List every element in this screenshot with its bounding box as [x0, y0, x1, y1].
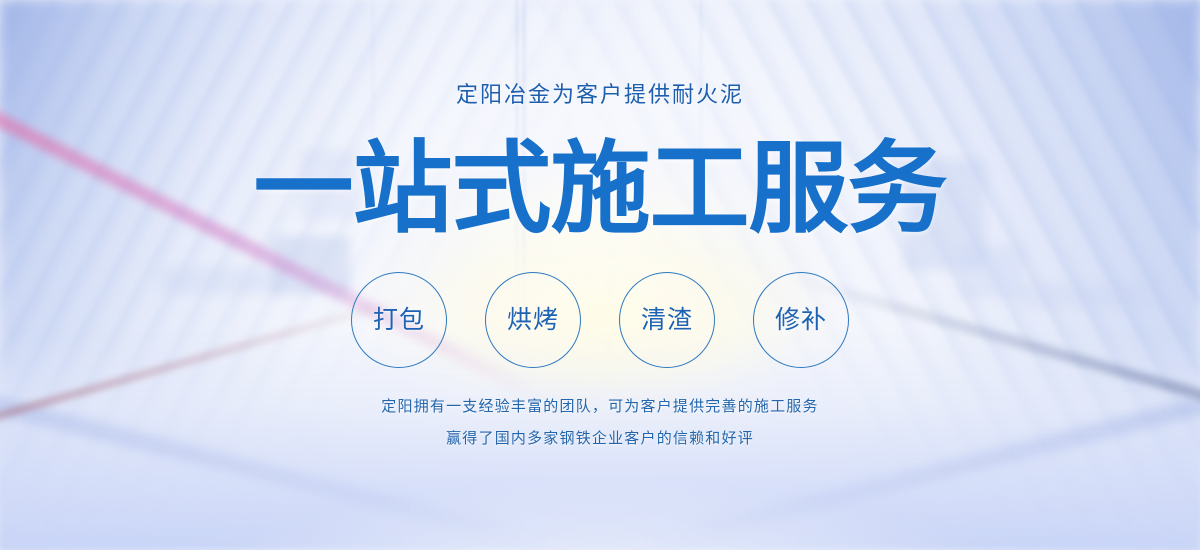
banner-tagline-primary: 定阳拥有一支经验丰富的团队，可为客户提供完善的施工服务	[0, 396, 1200, 418]
service-badge-label: 清渣	[641, 306, 693, 334]
banner-content: 定阳冶金为客户提供耐火泥 一站式施工服务 打包 烘烤 清渣 修补 定阳拥有一支经…	[0, 0, 1200, 550]
service-badge-packing[interactable]: 打包	[351, 272, 447, 368]
service-badge-repair[interactable]: 修补	[753, 272, 849, 368]
banner-tagline-secondary: 赢得了国内多家钢铁企业客户的信赖和好评	[0, 428, 1200, 450]
banner-headline: 一站式施工服务	[0, 137, 1200, 241]
banner-subtitle: 定阳冶金为客户提供耐火泥	[0, 80, 1200, 110]
service-badge-slag-cleaning[interactable]: 清渣	[619, 272, 715, 368]
service-badge-baking[interactable]: 烘烤	[485, 272, 581, 368]
service-badge-label: 打包	[373, 306, 425, 334]
service-badge-label: 烘烤	[507, 306, 559, 334]
promo-banner: 定阳冶金为客户提供耐火泥 一站式施工服务 打包 烘烤 清渣 修补 定阳拥有一支经…	[0, 0, 1200, 550]
service-badge-label: 修补	[775, 306, 827, 334]
service-badge-row: 打包 烘烤 清渣 修补	[0, 272, 1200, 368]
